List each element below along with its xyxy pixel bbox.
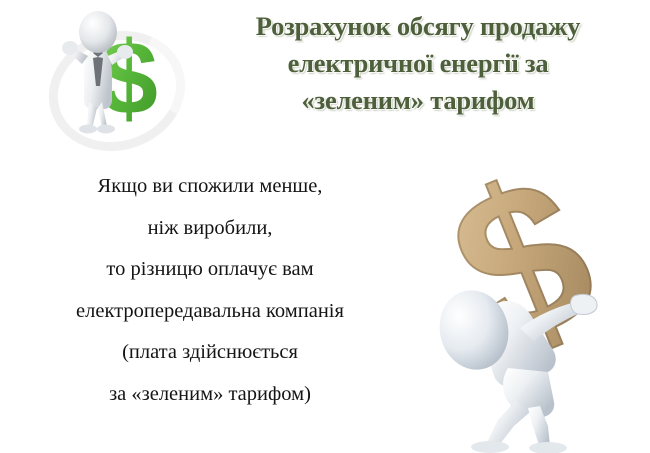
slide-header: $ (0, 0, 650, 140)
logo-figure-hand-right (117, 45, 133, 59)
thumbs-up-man-with-green-dollar-logo: $ (26, 2, 201, 138)
man-carrying-dollar-sign-illustration: $ (398, 158, 650, 453)
body-line-1: Якщо ви спожили менше, (8, 166, 412, 208)
logo-figure-thumbs-up-hand (62, 41, 78, 55)
carrier-figure-foot-back (471, 441, 509, 453)
body-line-5: (плата здійснюється (8, 332, 412, 374)
logo-figure-foot-right (97, 125, 115, 134)
body-line-6: за «зеленим» тарифом) (8, 374, 412, 416)
logo-graphic: $ (26, 2, 201, 138)
carrier-figure-hand (571, 294, 598, 314)
body-line-4: електропередавальна компанія (8, 291, 412, 333)
page-title-line-2: електричної енергії за (196, 45, 640, 82)
carrier-graphic: $ (398, 158, 650, 453)
logo-figure-head (79, 11, 117, 53)
page-title-line-3: «зеленим» тарифом (196, 82, 640, 119)
carrier-figure-foot-front (529, 442, 567, 453)
body-paragraph: Якщо ви спожили менше, ніж виробили, то … (8, 166, 412, 415)
logo-figure-foot-left (79, 125, 97, 134)
body-line-2: ніж виробили, (8, 208, 412, 250)
page-title: Розрахунок обсягу продажу електричної ен… (196, 8, 640, 119)
slide-canvas: $ (0, 0, 650, 453)
page-title-line-1: Розрахунок обсягу продажу (196, 8, 640, 45)
body-line-3: то різницю оплачує вам (8, 249, 412, 291)
